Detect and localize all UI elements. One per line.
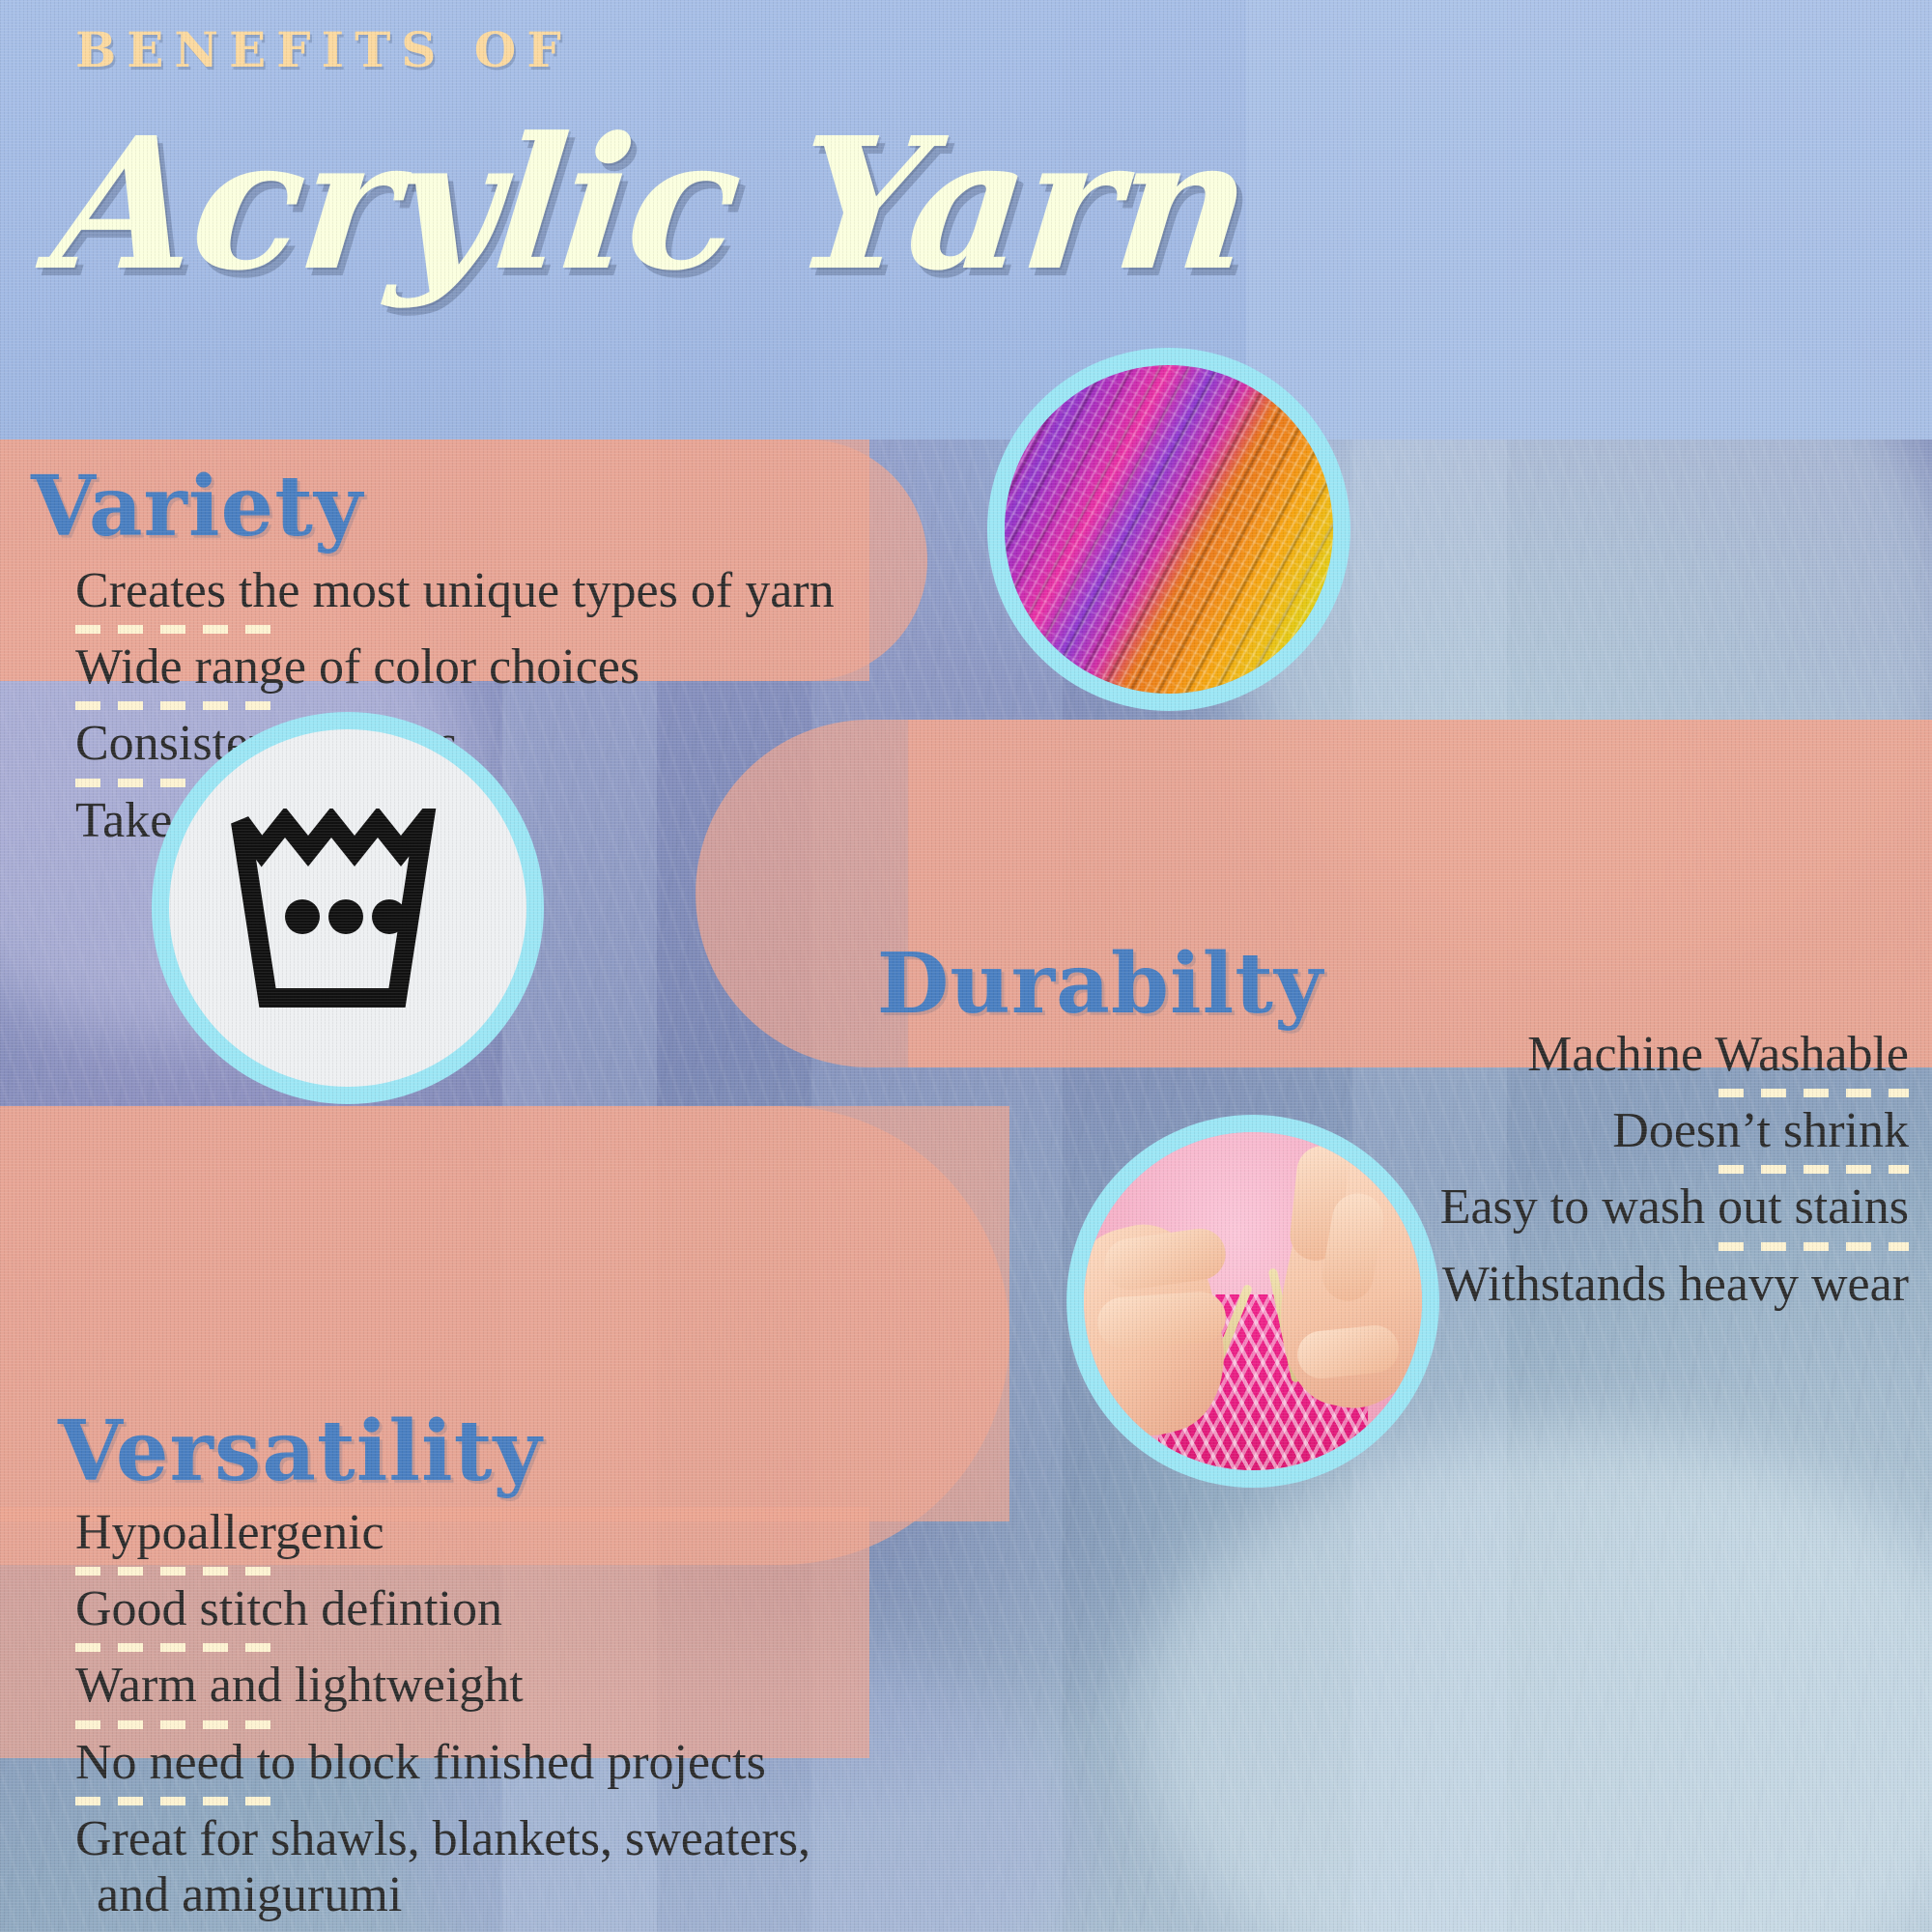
infographic-poster: BENEFITS OF Acrylic Yarn Variety Creates… [0, 0, 1932, 1932]
dashed-divider [1701, 1089, 1909, 1097]
list-item: Machine Washable [943, 1027, 1909, 1083]
rainbow-yarn-photo [1005, 365, 1333, 694]
list-item: Wide range of color choices [75, 639, 887, 696]
section-heading-variety: Variety [31, 458, 363, 555]
list-item: Great for shawls, blankets, sweaters, [75, 1811, 1041, 1867]
hands-knitting-photo [1084, 1132, 1422, 1470]
machine-wash-icon [227, 809, 469, 1021]
list-item: Hypoallergenic [75, 1505, 1041, 1561]
knitting-scene [1084, 1132, 1422, 1470]
yarn-strand-texture [1005, 365, 1333, 694]
list-item: Creates the most unique types of yarn [75, 563, 887, 619]
machine-wash-symbol-badge [169, 729, 526, 1087]
list-item: Good stitch defintion [75, 1581, 1041, 1637]
dashed-divider [1701, 1242, 1909, 1251]
list-item-continuation: and amigurumi [75, 1867, 1041, 1923]
dashed-divider [1701, 1165, 1909, 1174]
kicker-text: BENEFITS OF [75, 21, 572, 78]
header-blue-wash-right [1246, 0, 1932, 440]
dashed-divider [75, 1720, 283, 1729]
dashed-divider [75, 1567, 283, 1576]
section-heading-durability: Durabilty [877, 935, 1323, 1033]
page-title: Acrylic Yarn [46, 114, 1256, 296]
dashed-divider [75, 1643, 283, 1652]
list-item: Warm and lightweight [75, 1658, 1041, 1714]
section-heading-versatility: Versatility [58, 1403, 542, 1500]
versatility-list: Hypoallergenic Good stitch defintion War… [75, 1505, 1041, 1923]
dashed-divider [75, 701, 283, 710]
dashed-divider [75, 625, 283, 634]
finger [1095, 1290, 1227, 1350]
dashed-divider [75, 1797, 283, 1805]
list-item: No need to block finished projects [75, 1735, 1041, 1791]
